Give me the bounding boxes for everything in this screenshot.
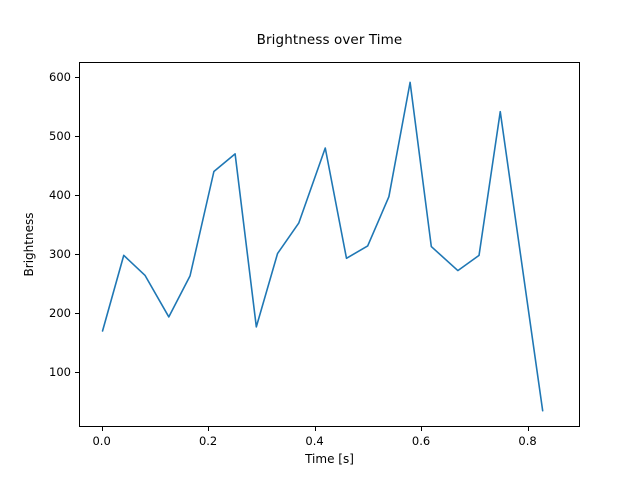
x-tick-label: 0.8 — [518, 434, 536, 448]
data-line-brightness — [103, 82, 543, 410]
y-tick-mark — [75, 254, 79, 255]
page-title: Brightness over Time — [79, 32, 580, 48]
x-tick-label: 0.0 — [92, 434, 110, 448]
x-axis-label: Time [s] — [79, 452, 580, 466]
figure-canvas: Brightness over Time 100200300400500600 … — [0, 0, 640, 480]
y-tick-mark — [75, 313, 79, 314]
x-tick-label: 0.2 — [199, 434, 217, 448]
x-tick-mark — [208, 427, 209, 431]
x-tick-mark — [102, 427, 103, 431]
x-tick-mark — [315, 427, 316, 431]
plot-area — [79, 62, 580, 427]
y-tick-mark — [75, 77, 79, 78]
x-tick-mark — [421, 427, 422, 431]
y-tick-mark — [75, 136, 79, 137]
x-tick-mark — [528, 427, 529, 431]
y-axis-label: Brightness — [22, 62, 36, 427]
x-tick-label: 0.4 — [305, 434, 323, 448]
line-series-svg — [80, 63, 579, 426]
y-tick-mark — [75, 372, 79, 373]
x-tick-label: 0.6 — [412, 434, 430, 448]
y-tick-mark — [75, 195, 79, 196]
